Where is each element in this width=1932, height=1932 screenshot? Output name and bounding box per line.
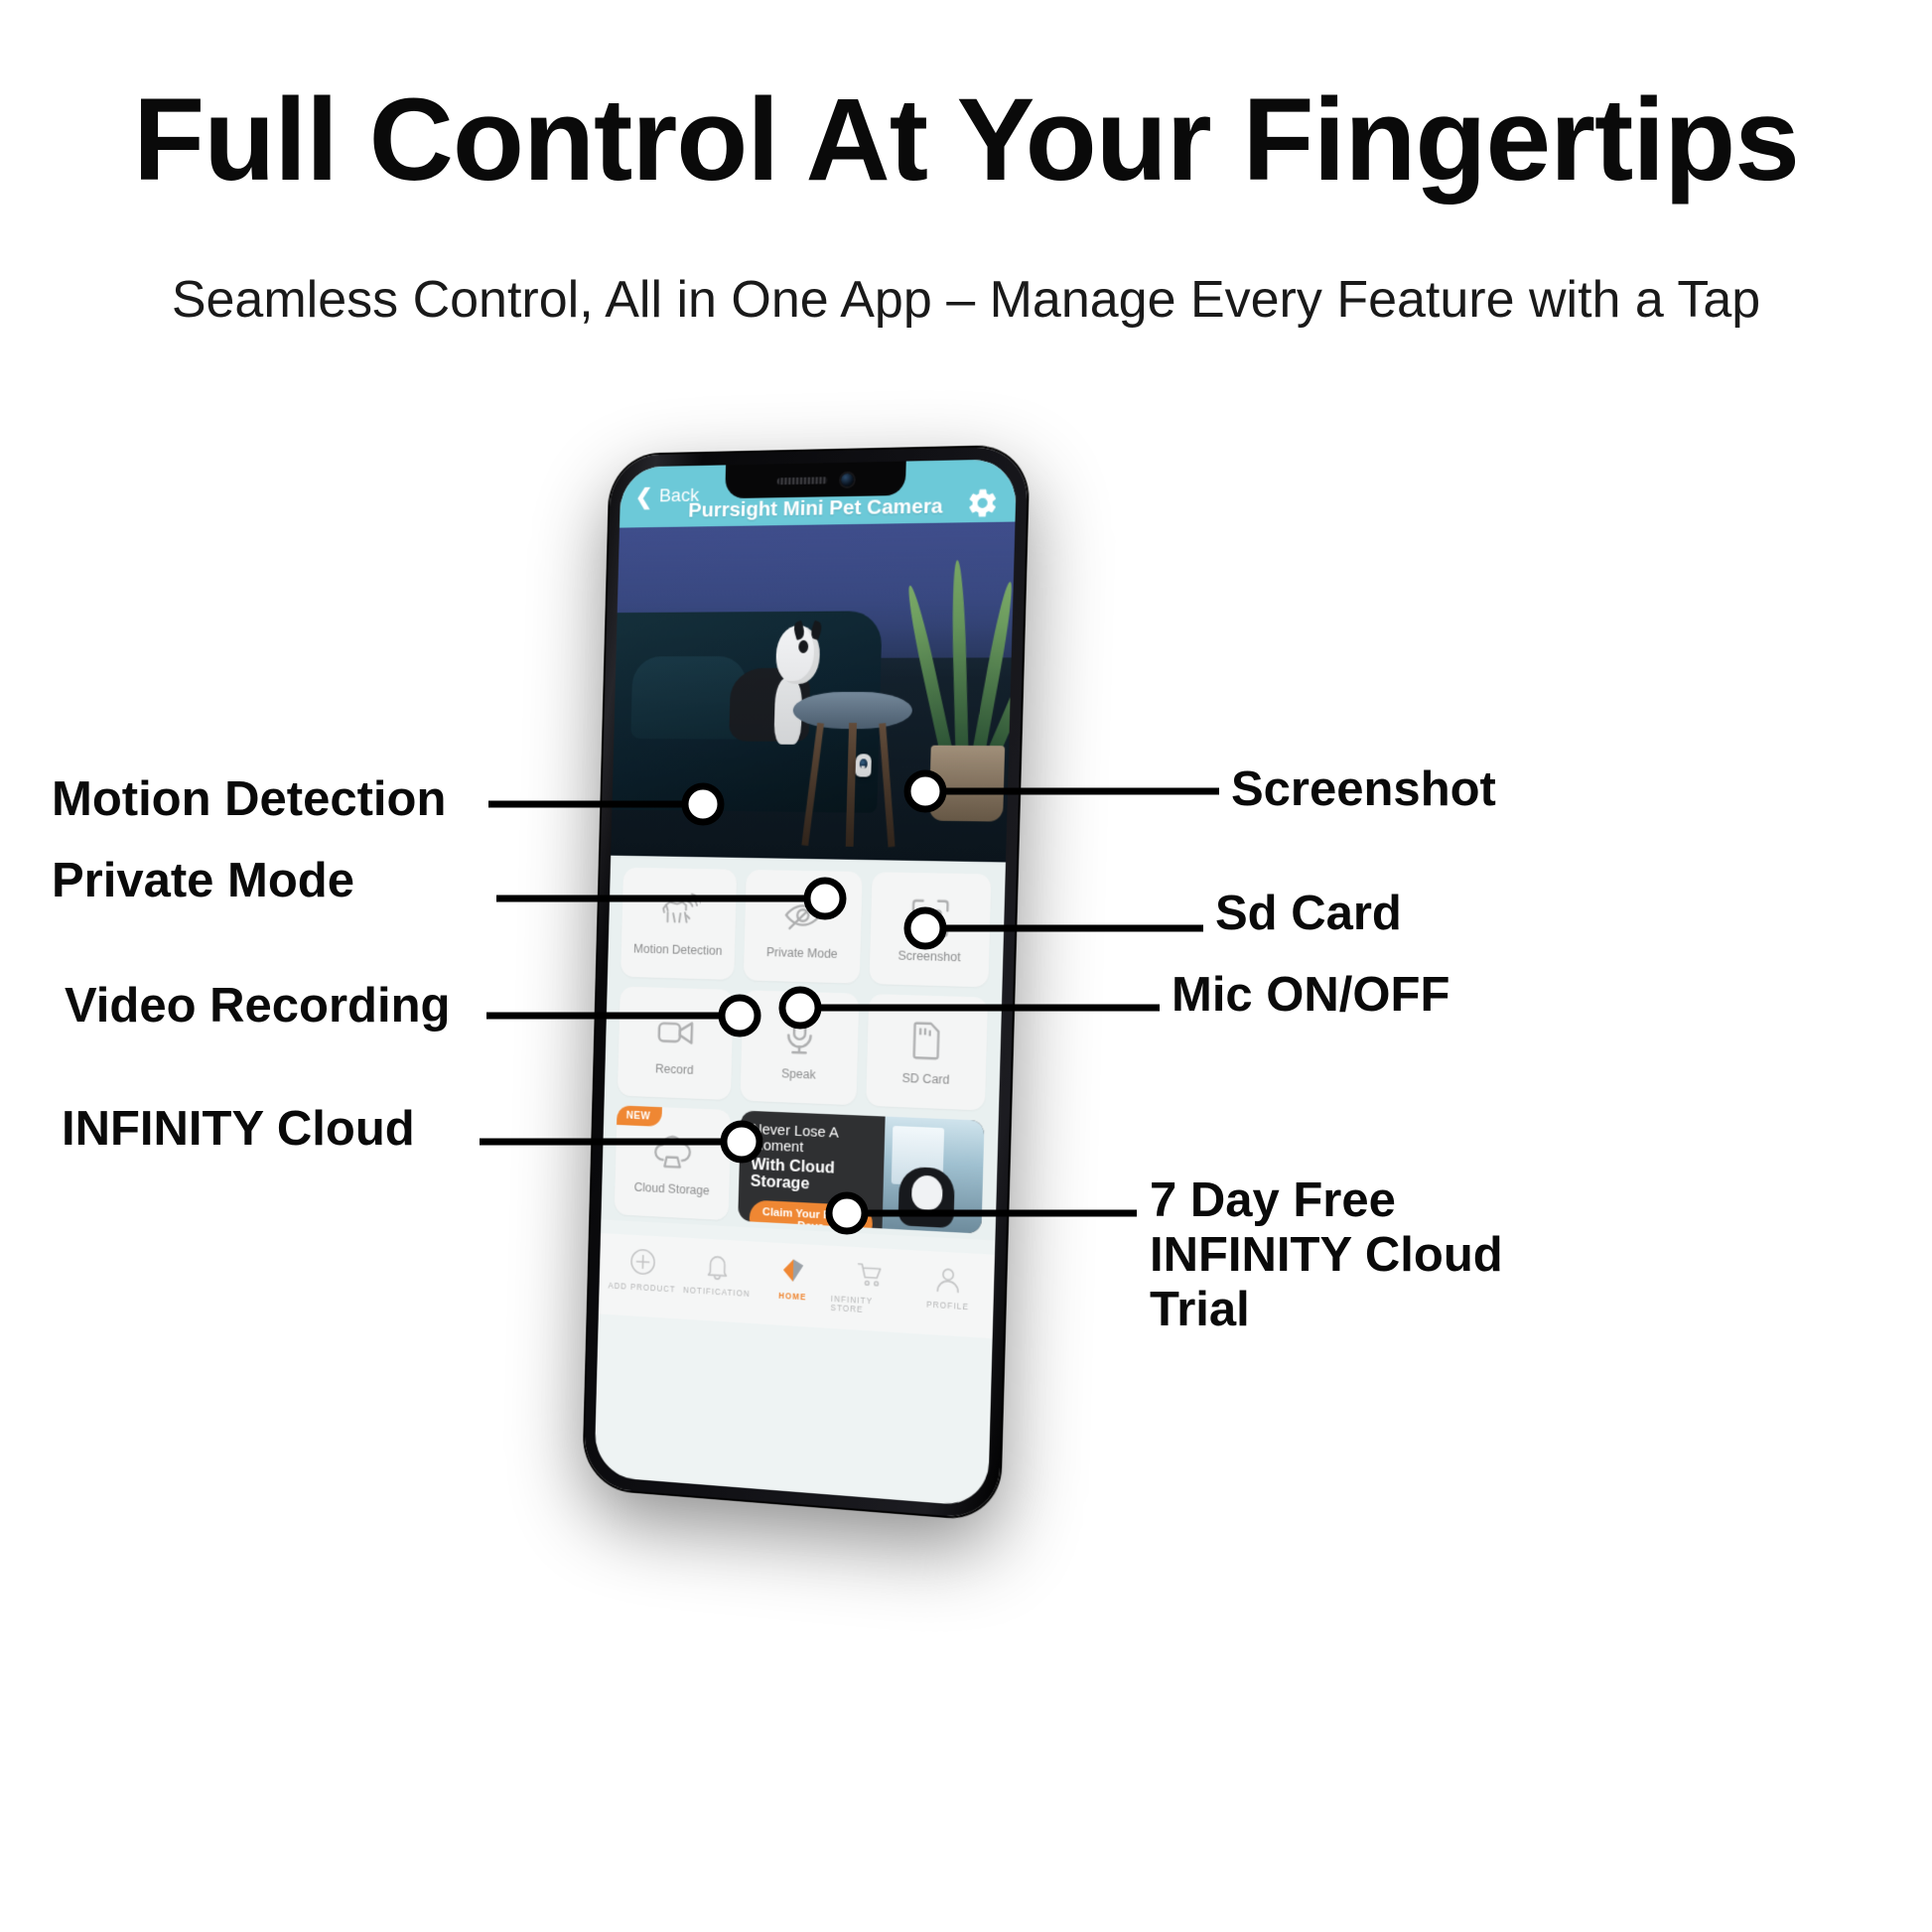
banner-text-area: Never Lose A Moment With Cloud Storage C… xyxy=(738,1111,886,1229)
cart-icon xyxy=(855,1259,885,1291)
banner-dog-face xyxy=(910,1175,942,1211)
bell-icon xyxy=(703,1251,733,1282)
sd-card-icon xyxy=(903,1017,950,1064)
banner-cta-button[interactable]: Claim Your Free 7-Days xyxy=(749,1200,873,1234)
earpiece-speaker-icon xyxy=(776,477,827,484)
page-title: Full Control At Your Fingertips xyxy=(0,79,1932,203)
control-label: Speak xyxy=(781,1066,816,1081)
page-subtitle: Seamless Control, All in One App – Manag… xyxy=(0,270,1932,330)
callout-label-screenshot: Screenshot xyxy=(1231,762,1496,817)
nav-label: PROFILE xyxy=(926,1301,969,1312)
callout-label-infinity-cloud: INFINITY Cloud xyxy=(62,1102,415,1157)
control-label: SD Card xyxy=(901,1071,949,1087)
callout-label-free-trial: 7 Day Free INFINITY Cloud Trial xyxy=(1150,1173,1503,1337)
feed-vignette xyxy=(611,522,1015,863)
camera-frame-icon xyxy=(906,895,953,942)
control-tile-sd-card[interactable]: SD Card xyxy=(866,994,988,1111)
nav-label: HOME xyxy=(778,1292,806,1303)
control-label: Screenshot xyxy=(897,948,961,964)
control-panel: Motion Detection Private Mode xyxy=(601,856,1006,1241)
cloud-and-banner-row: NEW Cloud Storage Never Lose A Moment xyxy=(615,1105,985,1233)
control-tile-speak[interactable]: Speak xyxy=(740,990,859,1105)
banner-line-2: With Cloud Storage xyxy=(751,1156,875,1196)
control-label: Private Mode xyxy=(766,945,838,961)
settings-button[interactable] xyxy=(965,485,1000,520)
nav-label: ADD PRODUCT xyxy=(608,1282,675,1295)
callout-label-private-mode: Private Mode xyxy=(52,854,354,908)
plus-circle-icon xyxy=(628,1246,657,1277)
nav-item-infinity-store[interactable]: INFINITY STORE xyxy=(831,1258,910,1317)
gear-icon xyxy=(965,485,1000,520)
new-badge: NEW xyxy=(617,1105,662,1127)
phone-notch xyxy=(725,462,906,499)
eye-off-icon xyxy=(780,893,826,939)
bottom-navigation: ADD PRODUCT NOTIFICATION HOME xyxy=(599,1233,995,1338)
control-grid: Motion Detection Private Mode xyxy=(618,868,992,1111)
live-video-feed[interactable] xyxy=(611,522,1015,863)
phone-mockup: ❮ Back Purrsight Mini Pet Camera xyxy=(584,447,1029,1520)
nav-item-profile[interactable]: PROFILE xyxy=(908,1262,989,1321)
poster-canvas: Full Control At Your Fingertips Seamless… xyxy=(0,0,1932,1932)
banner-image xyxy=(883,1117,985,1234)
nav-item-home[interactable]: HOME xyxy=(755,1254,833,1312)
callout-label-video-recording: Video Recording xyxy=(65,979,450,1034)
cloud-promo-banner[interactable]: Never Lose A Moment With Cloud Storage C… xyxy=(738,1111,984,1234)
control-tile-cloud-storage[interactable]: NEW Cloud Storage xyxy=(615,1105,732,1220)
control-label: Record xyxy=(655,1062,694,1077)
nav-item-notification[interactable]: NOTIFICATION xyxy=(679,1249,756,1308)
phone-screen: ❮ Back Purrsight Mini Pet Camera xyxy=(594,459,1017,1507)
control-tile-screenshot[interactable]: Screenshot xyxy=(870,872,992,987)
home-logo-icon xyxy=(778,1255,808,1287)
microphone-icon xyxy=(776,1013,822,1060)
nav-item-add-product[interactable]: ADD PRODUCT xyxy=(605,1245,680,1303)
control-tile-private-mode[interactable]: Private Mode xyxy=(744,870,863,984)
control-tile-record[interactable]: Record xyxy=(618,987,734,1101)
banner-line-1: Never Lose A Moment xyxy=(752,1122,876,1159)
callout-label-motion-detection: Motion Detection xyxy=(52,772,446,827)
cloud-upload-icon xyxy=(650,1128,695,1174)
control-tile-motion-detection[interactable]: Motion Detection xyxy=(621,868,737,980)
dog-motion-icon xyxy=(656,890,701,935)
front-camera-icon xyxy=(840,473,853,485)
person-icon xyxy=(933,1264,964,1296)
nav-label: NOTIFICATION xyxy=(683,1286,751,1299)
callout-label-sd-card: Sd Card xyxy=(1215,887,1402,941)
video-camera-icon xyxy=(653,1009,698,1055)
control-label: Cloud Storage xyxy=(634,1180,710,1198)
nav-label: INFINITY STORE xyxy=(831,1295,909,1317)
banner-dog xyxy=(898,1167,955,1228)
callout-label-mic-on-off: Mic ON/OFF xyxy=(1172,968,1449,1023)
control-label: Motion Detection xyxy=(633,942,723,958)
